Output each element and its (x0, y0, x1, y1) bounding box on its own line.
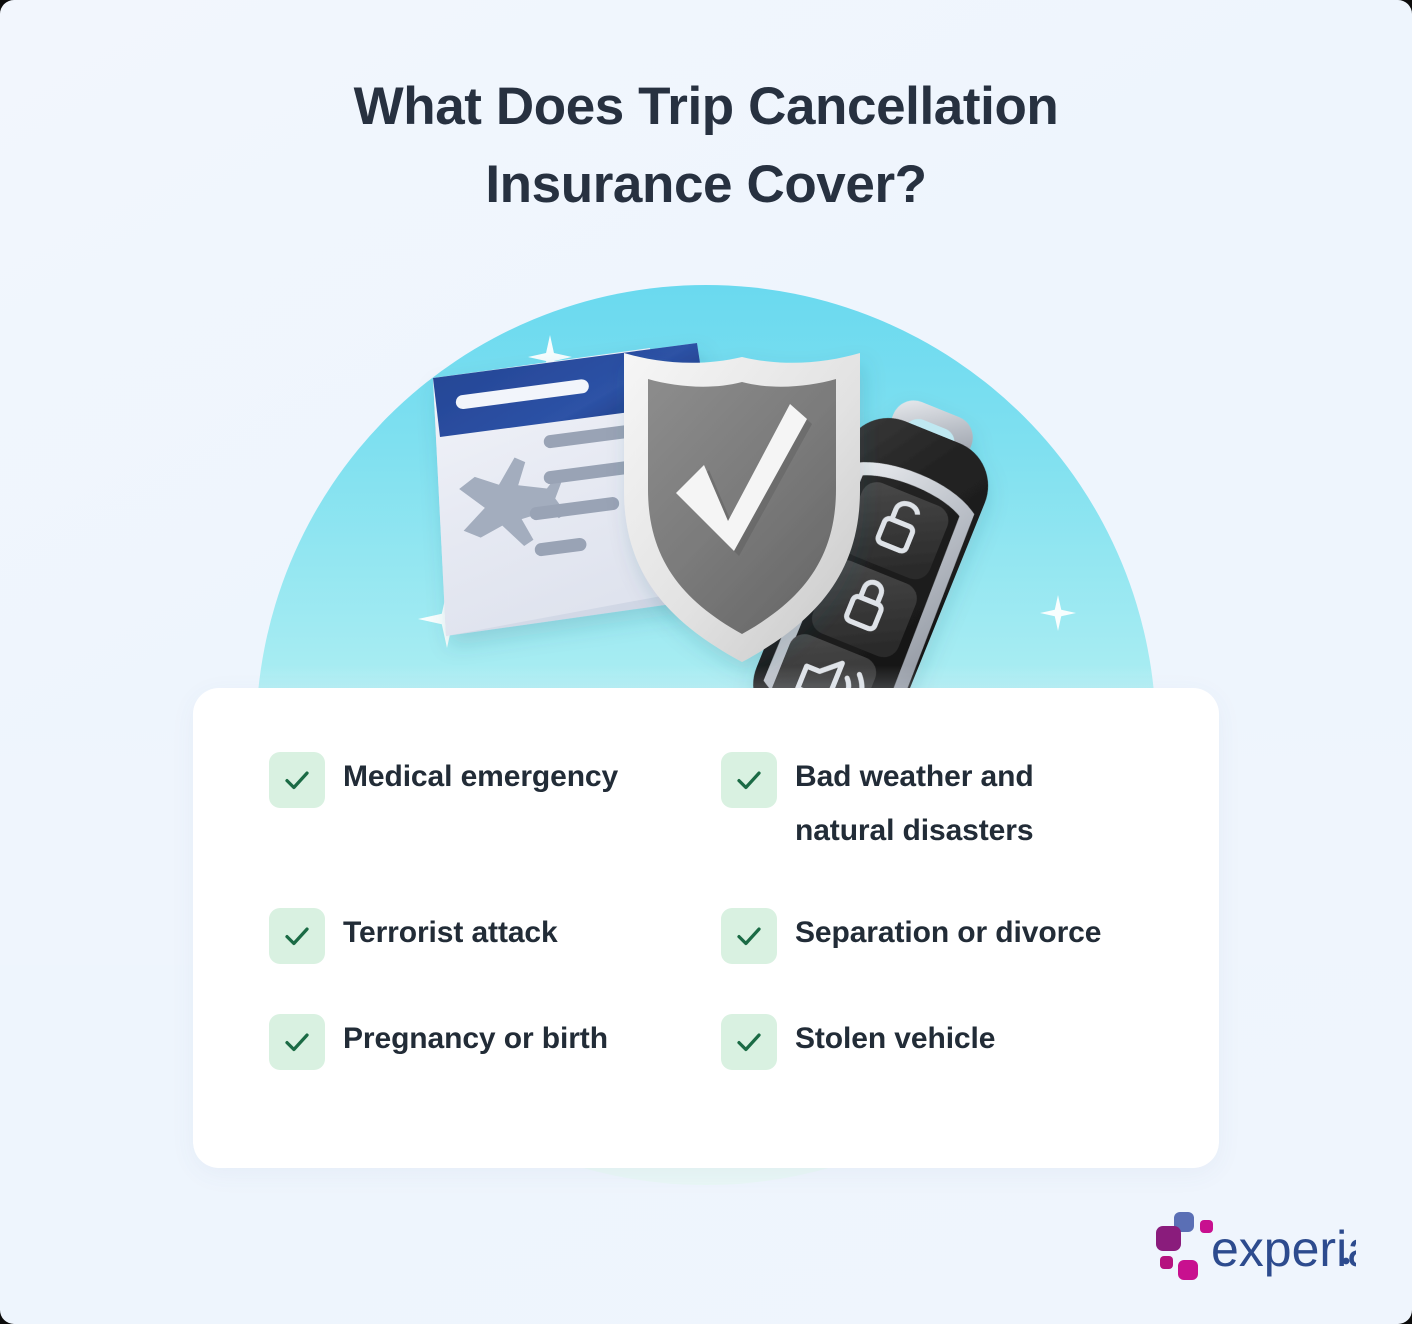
page-title: What Does Trip Cancellation Insurance Co… (0, 68, 1412, 224)
list-item[interactable]: Bad weather and natural disasters (721, 750, 1159, 858)
infographic-page: What Does Trip Cancellation Insurance Co… (0, 0, 1412, 1324)
experian-wordmark: experian (1211, 1221, 1356, 1277)
list-item-label: Stolen vehicle (795, 1012, 995, 1066)
hero-illustration (0, 240, 1412, 710)
checklist-card: Medical emergency Bad weather and natura… (193, 688, 1219, 1168)
list-item[interactable]: Pregnancy or birth (269, 1012, 721, 1070)
list-item-label: Medical emergency (343, 750, 618, 804)
illustration-artwork (0, 240, 1412, 710)
check-icon (721, 752, 777, 808)
experian-logo-period (1343, 1258, 1350, 1265)
check-icon (721, 1014, 777, 1070)
experian-logo[interactable]: experian (1156, 1206, 1356, 1284)
list-item-label: Terrorist attack (343, 906, 558, 960)
check-icon (269, 908, 325, 964)
list-item[interactable]: Medical emergency (269, 750, 721, 858)
list-item[interactable]: Terrorist attack (269, 906, 721, 964)
list-item[interactable]: Separation or divorce (721, 906, 1159, 964)
list-item[interactable]: Stolen vehicle (721, 1012, 1159, 1070)
list-item-label: Pregnancy or birth (343, 1012, 608, 1066)
check-icon (721, 908, 777, 964)
check-icon (269, 752, 325, 808)
title-line-2: Insurance Cover? (0, 146, 1412, 224)
experian-logo-dots (1156, 1212, 1213, 1280)
checklist-grid: Medical emergency Bad weather and natura… (269, 750, 1159, 1070)
title-line-1: What Does Trip Cancellation (0, 68, 1412, 146)
list-item-label: Bad weather and natural disasters (795, 750, 1125, 858)
list-item-label: Separation or divorce (795, 906, 1101, 960)
check-icon (269, 1014, 325, 1070)
